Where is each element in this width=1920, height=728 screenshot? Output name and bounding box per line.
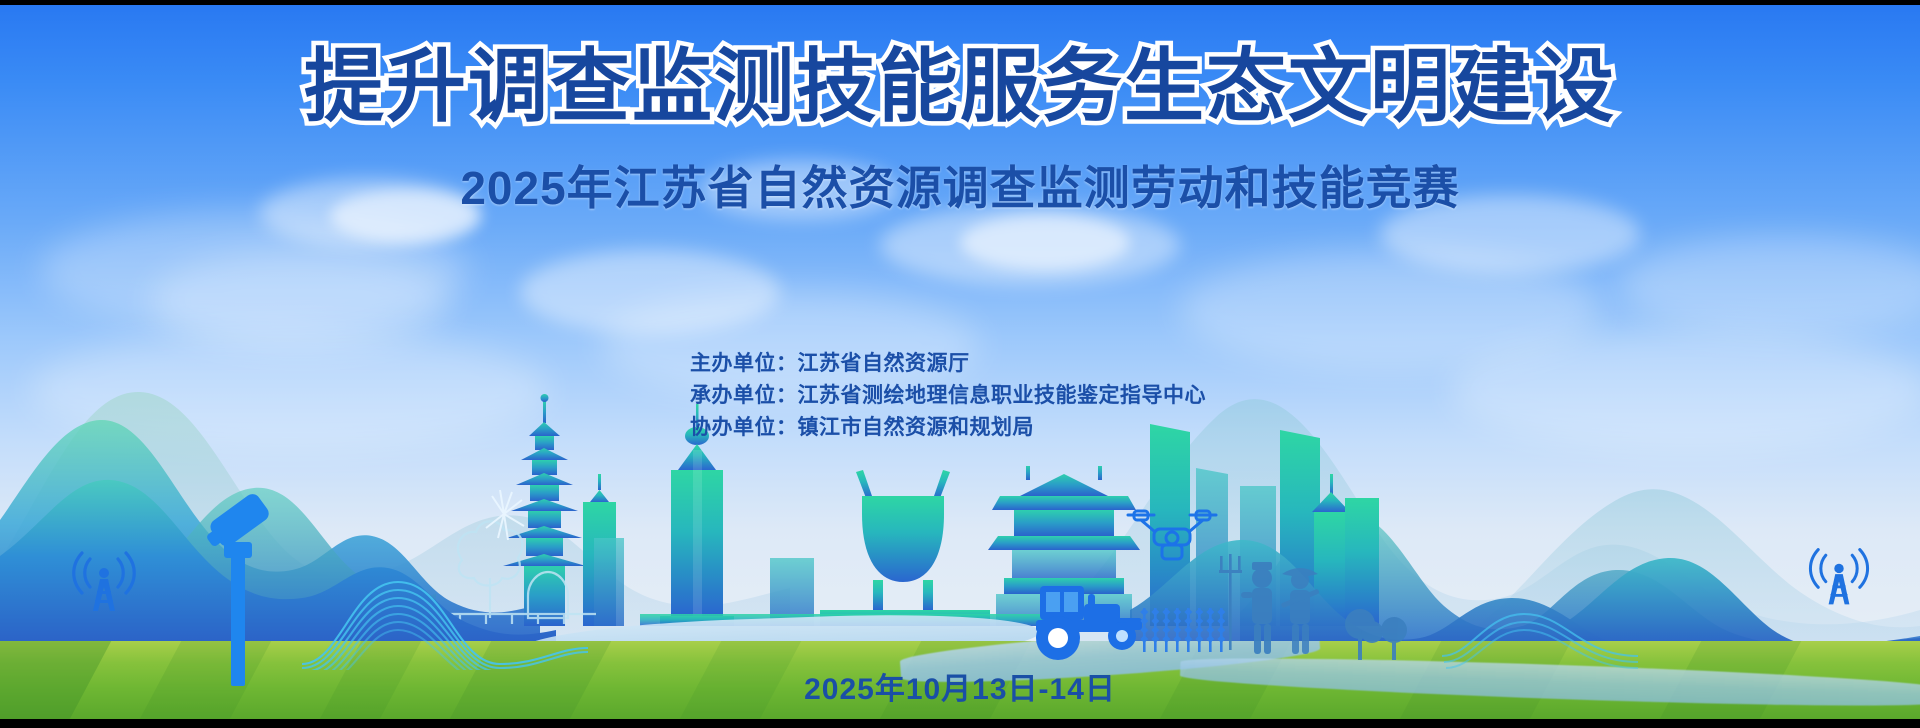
organizer-label: 承办单位： (690, 384, 798, 407)
headline-part2: 服务生态文明建设 (960, 44, 1616, 130)
headline-part1: 提升调查监测技能 (304, 44, 960, 130)
total-station-icon (196, 486, 286, 686)
farmer-icon (1216, 550, 1336, 660)
signal-tower-icon (1805, 540, 1873, 612)
event-date: 2025年10月13日-14日 (804, 673, 1116, 706)
event-date-row: 2025年10月13日-14日 (0, 664, 1920, 708)
letterbox-bottom (0, 719, 1920, 728)
organizer-row: 协办单位：镇江市自然资源和规划局 (690, 412, 1206, 444)
organizer-value: 江苏省测绘地理信息职业技能鉴定指导中心 (798, 384, 1207, 407)
subtitle-row: 2025年江苏省自然资源调查监测劳动和技能竞赛 (0, 152, 1920, 218)
drone-icon (1124, 505, 1220, 567)
contour-wave-icon (300, 560, 590, 670)
organizer-row: 承办单位：江苏省测绘地理信息职业技能鉴定指导中心 (690, 380, 1206, 412)
event-subtitle: 2025年江苏省自然资源调查监测劳动和技能竞赛 (460, 152, 1459, 218)
organizer-block: 主办单位：江苏省自然资源厅 承办单位：江苏省测绘地理信息职业技能鉴定指导中心 协… (690, 348, 1206, 444)
contour-wave-icon (1440, 600, 1640, 670)
organizer-label: 协办单位： (690, 416, 798, 439)
organizer-value: 镇江市自然资源和规划局 (798, 416, 1035, 439)
poster-banner: 提升调查监测技能服务生态文明建设 2025年江苏省自然资源调查监测劳动和技能竞赛… (0, 0, 1920, 728)
letterbox-top (0, 0, 1920, 5)
organizer-value: 江苏省自然资源厅 (798, 352, 970, 375)
main-headline: 提升调查监测技能服务生态文明建设 (0, 44, 1920, 130)
tree-icon (1338, 600, 1414, 662)
organizer-label: 主办单位： (690, 352, 798, 375)
organizer-row: 主办单位：江苏省自然资源厅 (690, 348, 1206, 380)
tractor-icon (1018, 580, 1146, 662)
signal-tower-icon (68, 545, 140, 617)
